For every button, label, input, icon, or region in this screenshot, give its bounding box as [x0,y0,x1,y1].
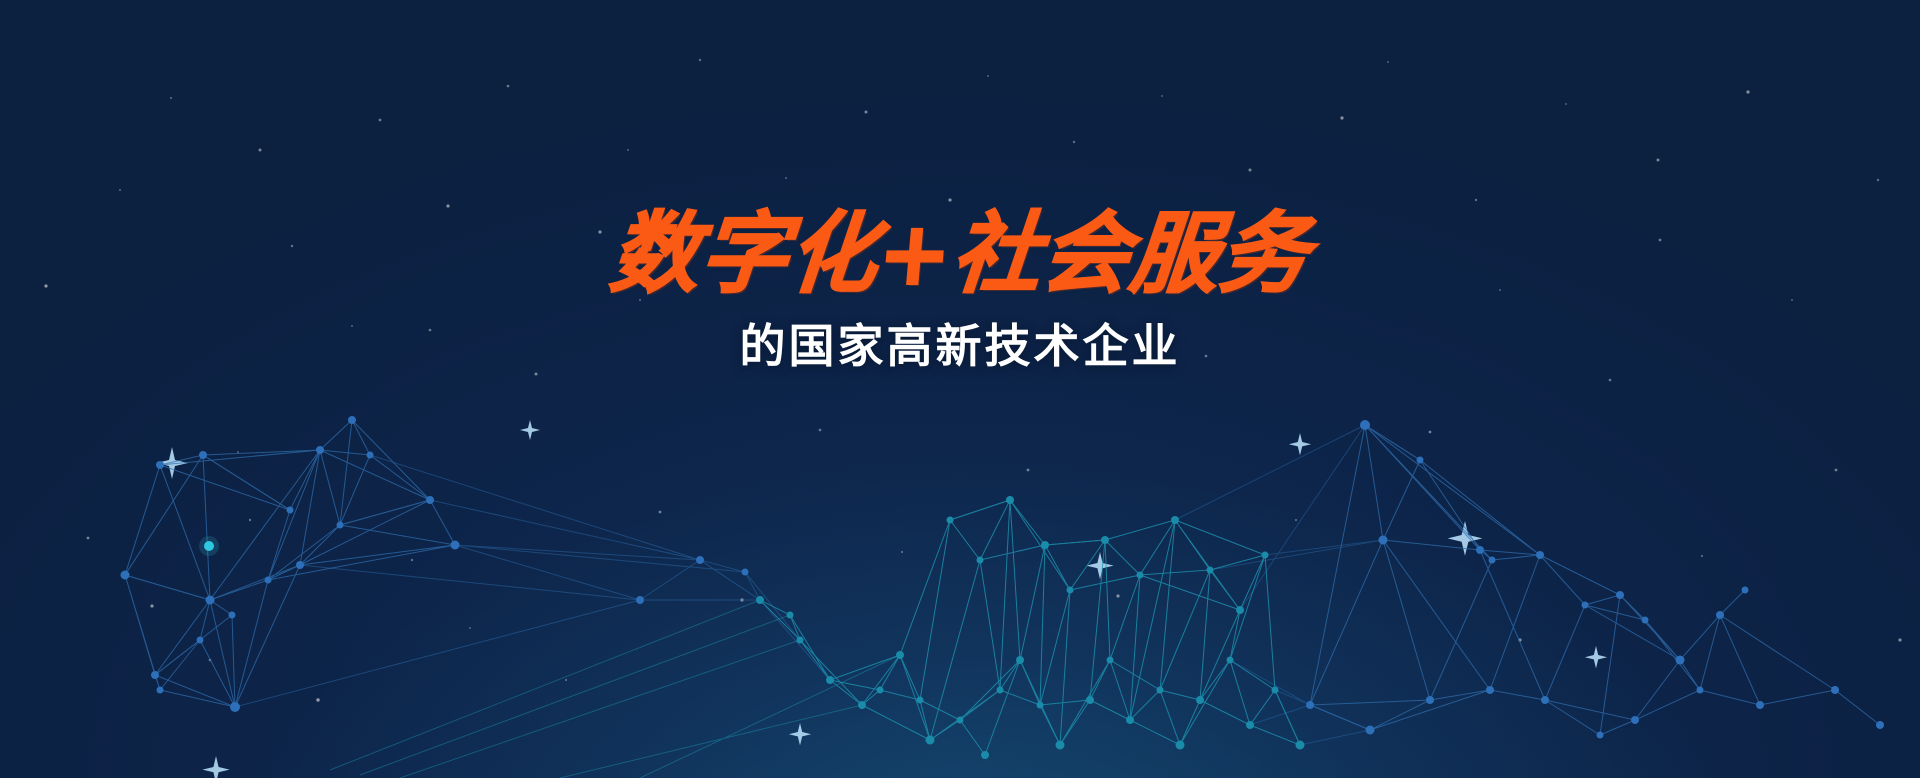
polygonal-network-mesh [0,0,1920,778]
highlight-node [199,536,219,556]
network-edges-long-right [1175,425,1383,745]
network-edges-right [1310,425,1880,735]
hero-banner: 数字化+社会服务 的国家高新技术企业 [0,0,1920,778]
network-nodes-teal [756,496,1305,759]
network-edges-tail [330,600,900,778]
network-edges-left [125,420,455,707]
network-edges-bridge [235,455,830,707]
network-edges-center [760,500,1300,755]
